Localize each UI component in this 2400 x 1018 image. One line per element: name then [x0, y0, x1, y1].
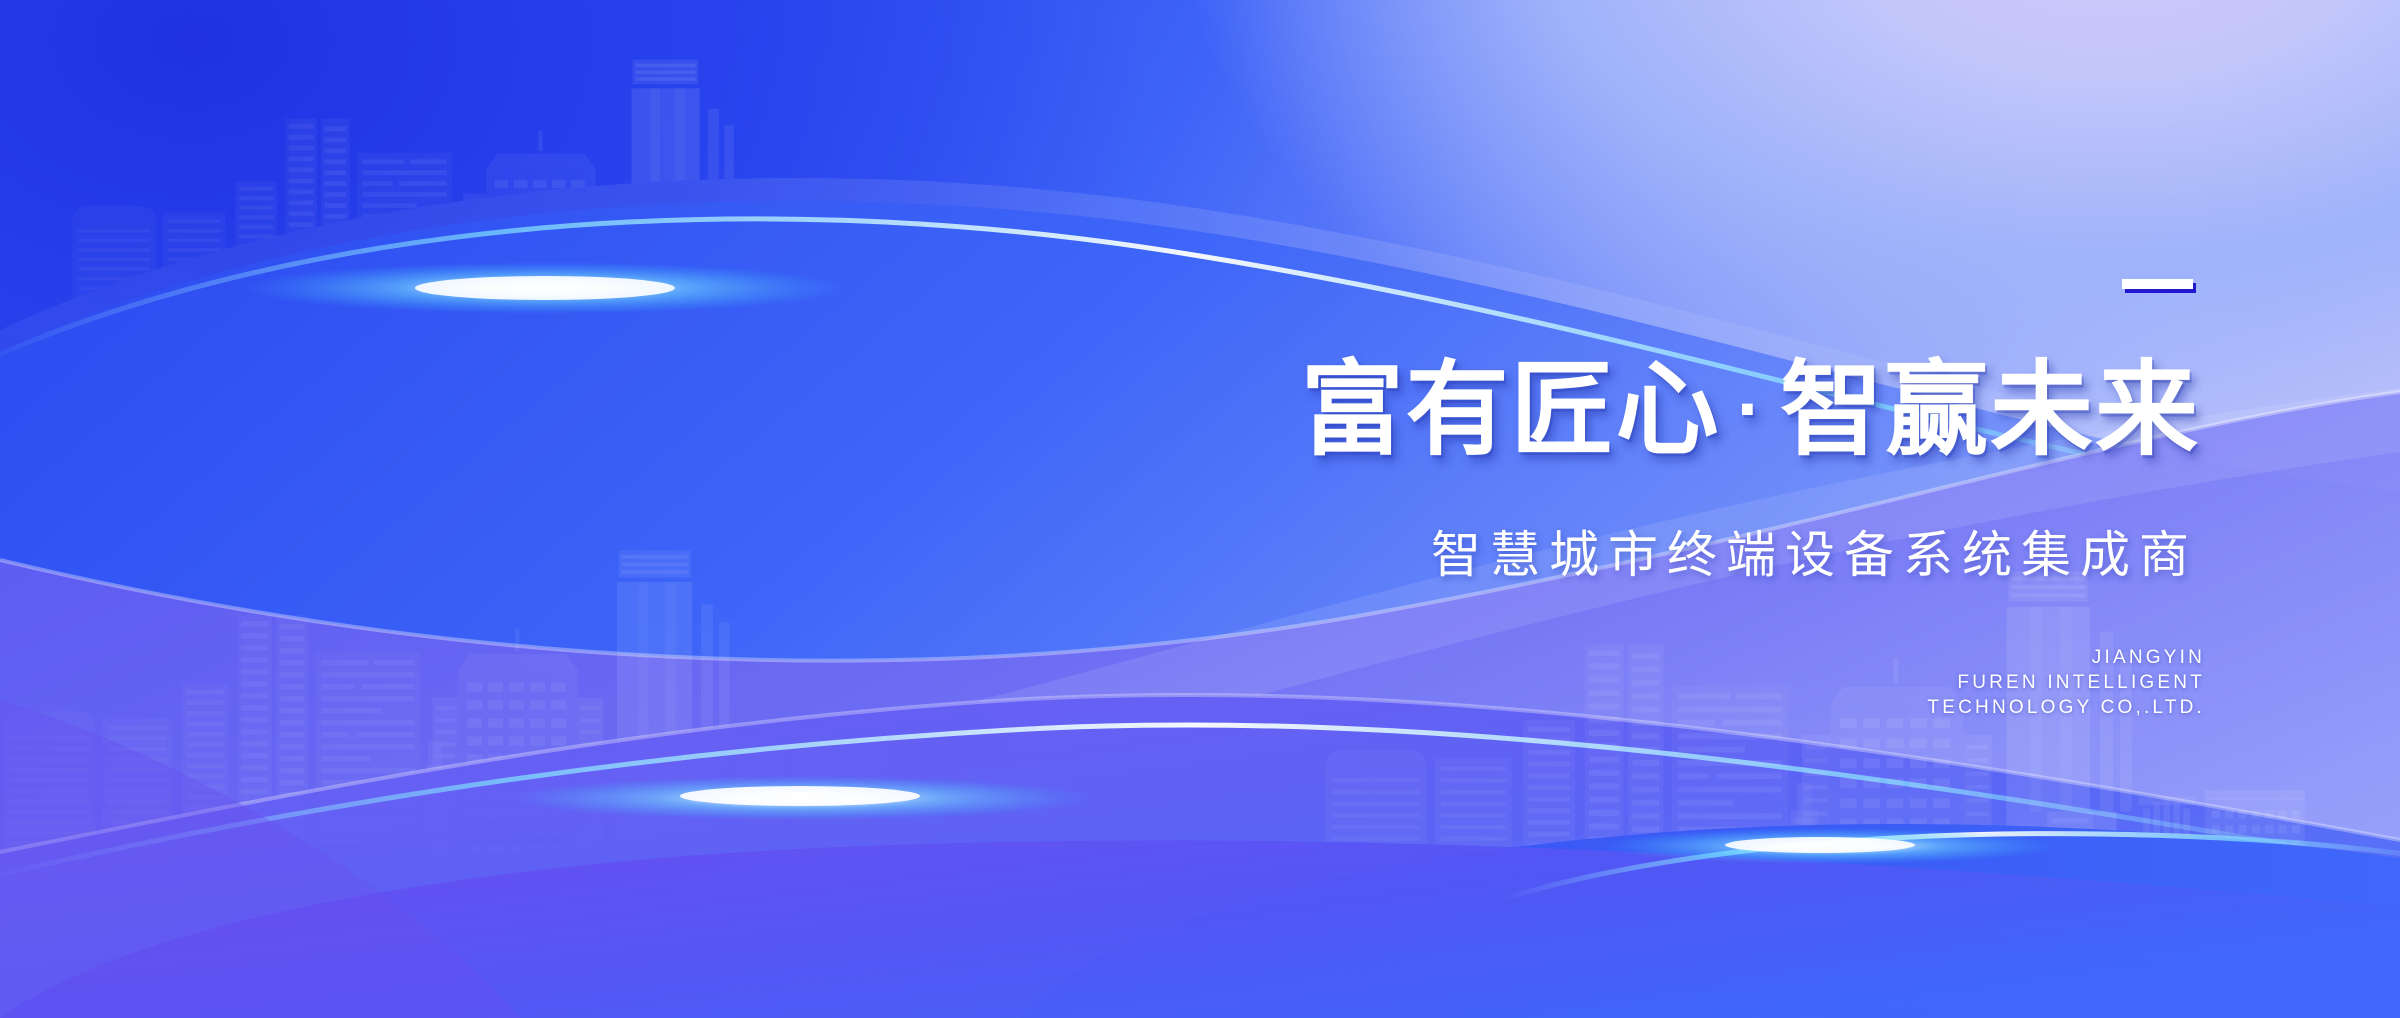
accent-dash: [2122, 279, 2193, 289]
main-title-right: 智赢未来: [1780, 352, 2200, 467]
sub-title: 智慧城市终端设备系统集成商: [1431, 515, 2198, 587]
company-line-3: TECHNOLOGY CO,.LTD.: [1927, 695, 2205, 720]
main-title-left: 富有匠心: [1301, 352, 1721, 467]
company-line-2: FUREN INTELLIGENT: [1927, 670, 2205, 695]
main-title-separator: ·: [1721, 367, 1780, 452]
main-title: 富有匠心·智赢未来: [1301, 352, 2200, 467]
company-line-1: JIANGYIN: [1927, 645, 2205, 670]
banner-canvas: 富有匠心·智赢未来 智慧城市终端设备系统集成商 JIANGYIN FUREN I…: [0, 0, 2400, 1018]
company-name-en: JIANGYIN FUREN INTELLIGENT TECHNOLOGY CO…: [1927, 645, 2205, 720]
banner-artwork: [0, 0, 2400, 1018]
